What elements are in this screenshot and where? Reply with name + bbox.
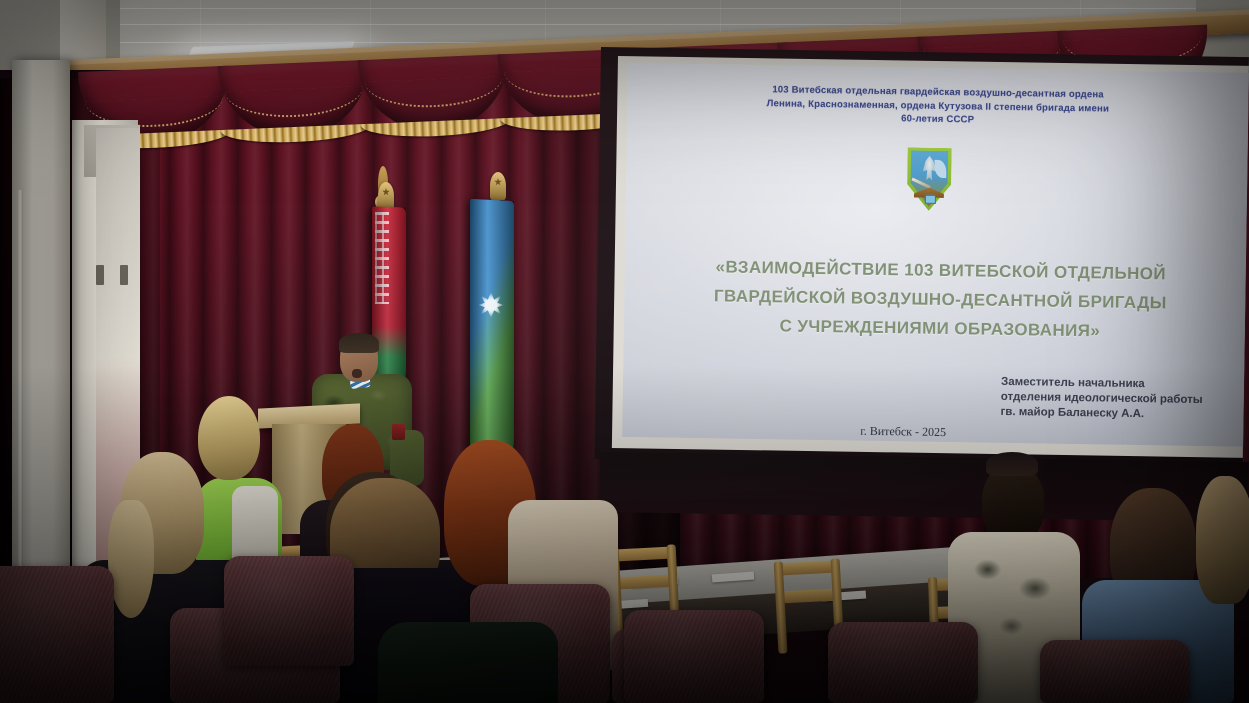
slide-author-block: Заместитель начальника отделения идеолог…	[1000, 375, 1248, 424]
auditorium-seat	[624, 610, 764, 703]
slide-title: «ВЗАИМОДЕЙСТВИЕ 103 ВИТЕБСКОЙ ОТДЕЛЬНОЙ …	[660, 252, 1221, 348]
airborne-flag-shading	[470, 199, 514, 466]
conference-hall-photo: 103 Витебская отдельная гвардейская возд…	[0, 0, 1249, 703]
parachute-emblem-icon	[478, 292, 504, 318]
dark-bag-foreground	[378, 622, 558, 703]
projection-screen: 103 Витебская отдельная гвардейская возд…	[622, 63, 1249, 447]
auditorium-seat	[224, 556, 354, 666]
auditorium-seat	[828, 622, 978, 703]
belarus-flag-shading	[372, 206, 406, 399]
auditorium-seat	[1040, 640, 1190, 703]
uniform-shoulder-patch	[392, 424, 405, 440]
auditorium-seat	[0, 566, 114, 703]
door-hinge-icon	[120, 265, 128, 285]
door-hinge-icon	[96, 265, 104, 285]
brigade-emblem-icon	[904, 147, 955, 211]
slide-city-year: г. Витебск - 2025	[860, 424, 946, 440]
flag-finial-icon	[490, 172, 506, 200]
vertical-pole	[18, 190, 23, 590]
